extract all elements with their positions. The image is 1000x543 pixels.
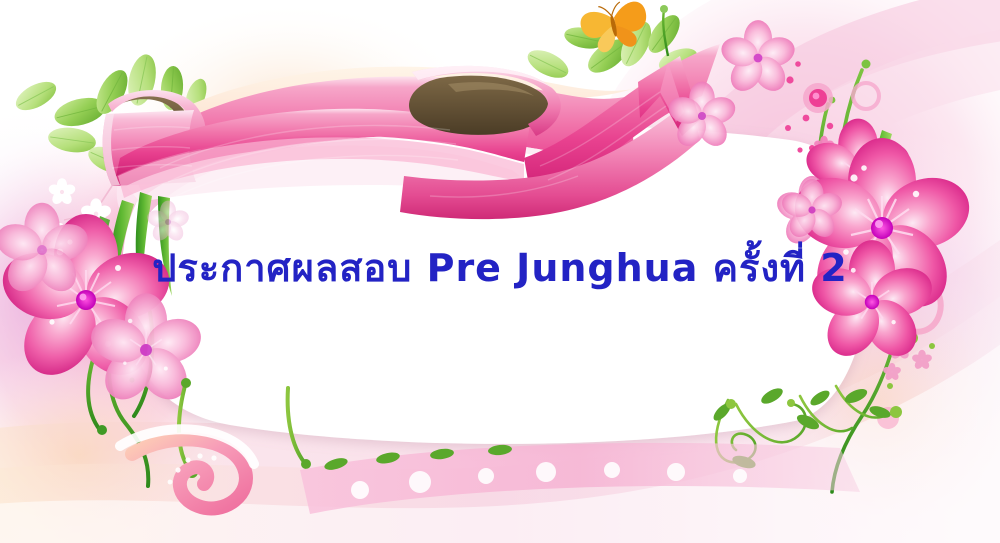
bottom-decoration-layer	[0, 0, 1000, 543]
pink-decorative-swirl	[120, 429, 254, 508]
floral-banner: ประกาศผลสอบ Pre Junghua ครั้งที่ 2	[0, 0, 1000, 543]
polka-dot-band	[300, 443, 860, 514]
